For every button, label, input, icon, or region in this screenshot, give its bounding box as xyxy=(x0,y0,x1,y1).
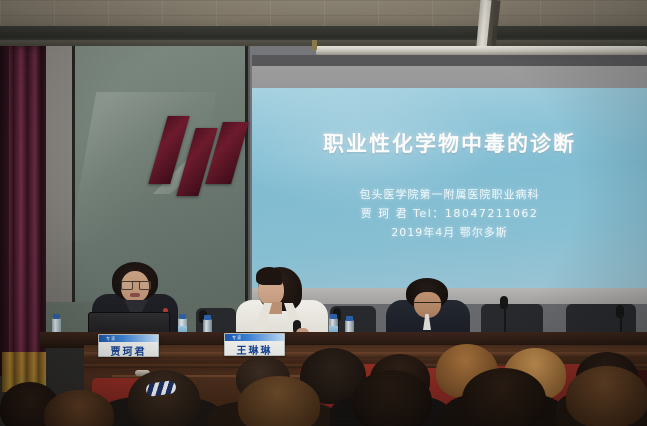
panelist-2-hair-front xyxy=(256,267,282,285)
wall-strip xyxy=(44,46,73,302)
panelist-3-glasses-icon xyxy=(413,302,442,309)
slide-affiliation: 包头医学院第一附属医院职业病科 xyxy=(252,186,647,202)
desk-mic-head xyxy=(616,305,624,318)
panelist-1-mouth xyxy=(130,293,140,297)
curtain-edge xyxy=(0,46,9,376)
wall-decoration xyxy=(150,116,246,206)
panelist-1-glasses-lens xyxy=(139,281,151,290)
water-bottle-cap xyxy=(346,316,353,321)
audience-seating xyxy=(0,330,647,426)
audience-head xyxy=(352,370,432,426)
projection-screen: 职业性化学物中毒的诊断 包头医学院第一附属医院职业病科 贾 珂 君 Tel：18… xyxy=(252,88,647,288)
projection-screen-housing xyxy=(316,46,647,55)
wall-seam xyxy=(248,46,250,302)
projection-screen-top-border xyxy=(252,55,647,66)
slide-title: 职业性化学物中毒的诊断 xyxy=(252,128,647,158)
water-bottle-cap xyxy=(204,315,211,320)
water-bottle-cap xyxy=(53,314,60,319)
panelist-1-glasses-lens xyxy=(121,281,133,290)
water-bottle-cap xyxy=(330,314,337,319)
slide-date-location: 2019年4月 鄂尔多斯 xyxy=(252,224,647,240)
desk-mic-head xyxy=(500,296,508,309)
audience-head xyxy=(128,370,200,426)
audience-head xyxy=(462,368,546,426)
slide-presenter-contact: 贾 珂 君 Tel：18047211062 xyxy=(252,205,647,221)
screen-hook xyxy=(312,40,317,50)
audience-head xyxy=(238,376,320,426)
audience-head xyxy=(566,366,647,426)
water-bottle-cap xyxy=(179,314,186,319)
lecture-hall-photo: 职业性化学物中毒的诊断 包头医学院第一附属医院职业病科 贾 珂 君 Tel：18… xyxy=(0,0,647,426)
